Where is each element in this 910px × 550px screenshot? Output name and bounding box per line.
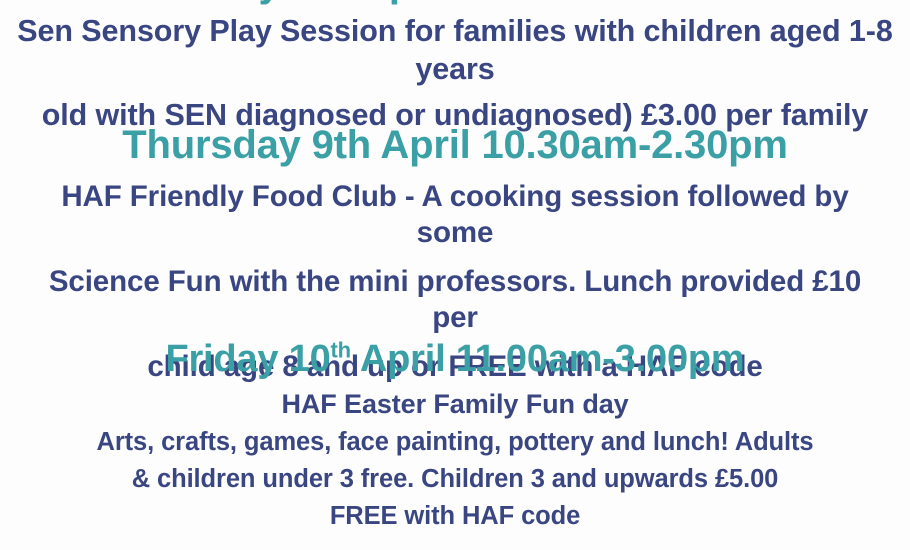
event-heading-friday-prefix: Friday 10 [165, 338, 330, 380]
event-heading-friday-suffix: April 11.00am-3.00pm [351, 338, 745, 380]
event-heading-tuesday: Tuesday 7th April 10.00am-12.00am [0, 0, 910, 4]
event-description-friday-line-1: Arts, crafts, games, face painting, pott… [0, 427, 910, 458]
event-description-tuesday-line-1: Sen Sensory Play Session for families wi… [0, 13, 910, 87]
event-block-friday: Friday 10th April 11.00am-3.00pm HAF Eas… [0, 339, 910, 533]
event-description-thursday-line-2: Science Fun with the mini professors. Lu… [0, 264, 910, 336]
event-description-thursday-line-1: HAF Friendly Food Club - A cooking sessi… [0, 179, 910, 251]
event-heading-friday-ordinal: th [331, 337, 351, 362]
event-description-friday-line-2: & children under 3 free. Children 3 and … [0, 464, 910, 495]
poster-canvas: Tuesday 7th April 10.00am-12.00am Sen Se… [0, 0, 910, 550]
event-subtitle-friday: HAF Easter Family Fun day [0, 388, 910, 421]
event-description-friday-line-3: FREE with HAF code [0, 501, 910, 532]
event-heading-friday: Friday 10th April 11.00am-3.00pm [0, 339, 910, 379]
event-heading-thursday: Thursday 9th April 10.30am-2.30pm [0, 124, 910, 166]
event-block-tuesday: Tuesday 7th April 10.00am-12.00am Sen Se… [0, 0, 910, 134]
